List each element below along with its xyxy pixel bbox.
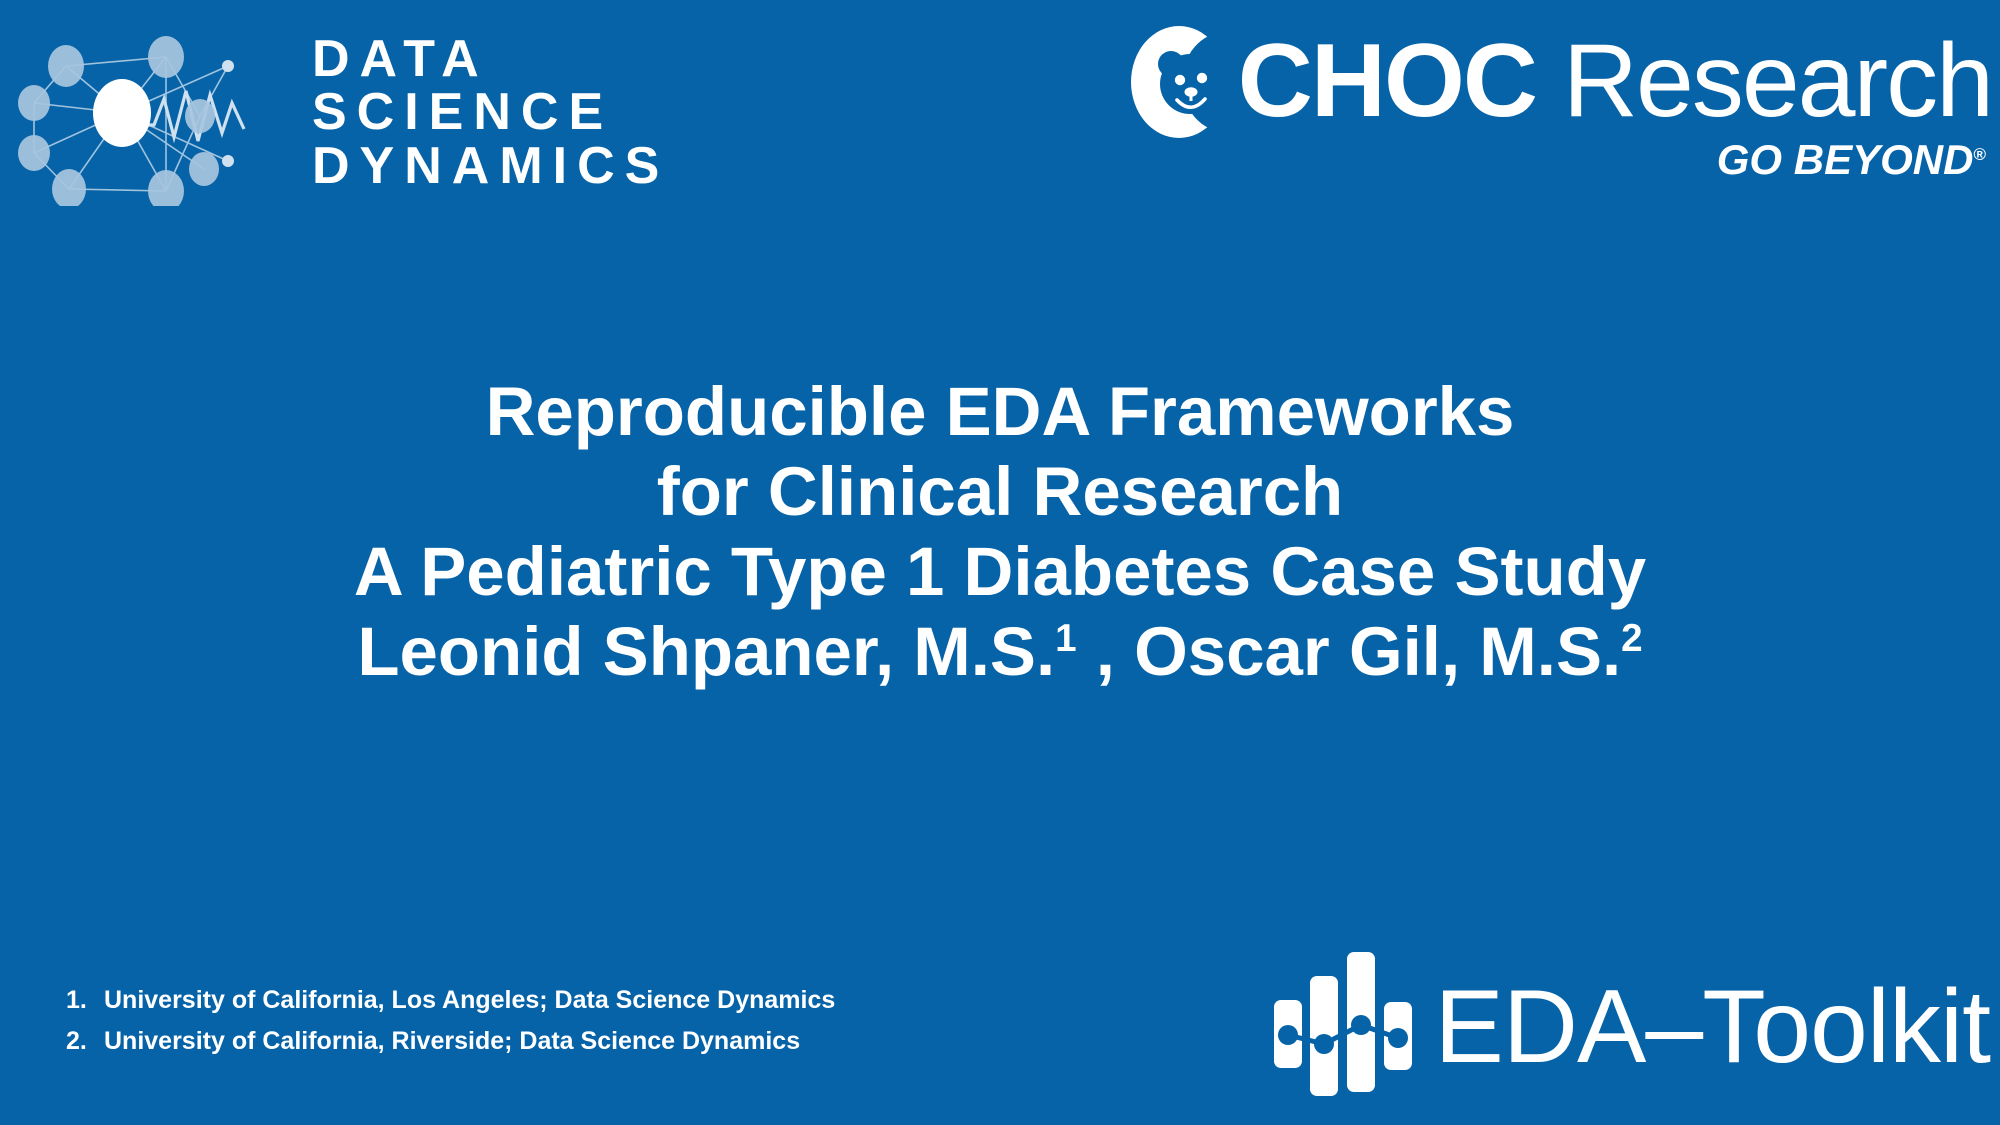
dsd-wordmark: DATA SCIENCE DYNAMICS [312, 33, 669, 192]
network-center-node [93, 79, 151, 147]
author-2-affiliation-marker: 2 [1621, 617, 1642, 660]
network-nodes-graph-icon [14, 21, 304, 206]
eda-toolkit-wordmark: EDA–Toolkit [1435, 975, 1990, 1079]
author-1-name: Leonid Shpaner, M.S. [357, 613, 1055, 690]
title-line-1: Reproducible EDA Frameworks [0, 372, 2000, 452]
registered-trademark-icon: ® [1973, 145, 1986, 164]
dsd-line-1: DATA [312, 33, 669, 86]
crescent-moon-bear-icon [1122, 22, 1242, 142]
choc-word-research: Research [1563, 23, 1992, 139]
affiliation-item: 1. University of California, Los Angeles… [66, 980, 835, 1021]
author-1-affiliation-marker: 1 [1055, 617, 1076, 660]
choc-research-logo: CHOC Research GO BEYOND® [1052, 22, 1992, 182]
choc-wordmark: CHOC Research [1238, 31, 1992, 133]
affiliation-text: University of California, Riverside; Dat… [104, 1021, 800, 1062]
affiliations-list: 1. University of California, Los Angeles… [66, 980, 835, 1061]
eda-toolkit-logo: EDA–Toolkit [1268, 937, 1990, 1117]
author-line: Leonid Shpaner, M.S.1 , Oscar Gil, M.S.2 [0, 612, 2000, 692]
affiliation-number: 1. [66, 980, 104, 1021]
affiliation-number: 2. [66, 1021, 104, 1062]
title-line-3: A Pediatric Type 1 Diabetes Case Study [0, 532, 2000, 612]
author-separator: , [1077, 613, 1135, 690]
choc-tagline: GO BEYOND® [1052, 136, 1992, 184]
title-slide: DATA SCIENCE DYNAMICS [0, 0, 2000, 1125]
dsd-line-2: SCIENCE [312, 86, 669, 139]
affiliation-item: 2. University of California, Riverside; … [66, 1021, 835, 1062]
choc-word-bold: CHOC [1238, 23, 1536, 139]
title-line-2: for Clinical Research [0, 452, 2000, 532]
title-block: Reproducible EDA Frameworks for Clinical… [0, 372, 2000, 692]
affiliation-text: University of California, Los Angeles; D… [104, 980, 835, 1021]
dsd-line-3: DYNAMICS [312, 140, 669, 193]
choc-logo-row: CHOC Research [1052, 22, 1992, 142]
candlestick-bars-icon [1268, 942, 1443, 1112]
author-2-name: Oscar Gil, M.S. [1134, 613, 1621, 690]
choc-tagline-text: GO BEYOND [1717, 136, 1974, 183]
data-science-dynamics-logo: DATA SCIENCE DYNAMICS [14, 18, 774, 208]
